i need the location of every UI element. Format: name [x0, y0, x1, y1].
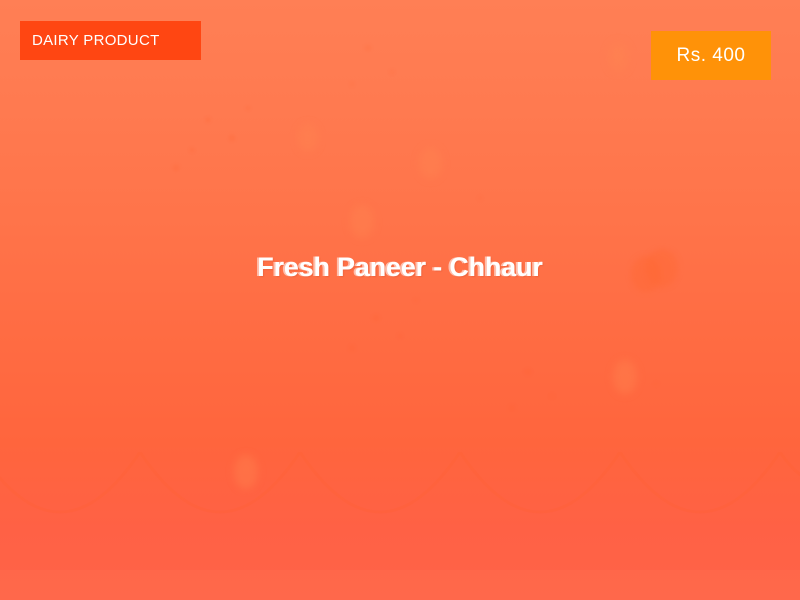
bottom-band — [0, 570, 800, 600]
category-badge: DAIRY PRODUCT — [20, 21, 201, 60]
price-badge: Rs. 400 — [651, 31, 771, 80]
blob-upper-mid — [419, 147, 442, 179]
wave-pattern — [0, 452, 800, 572]
blob-lower-left — [234, 455, 258, 489]
blob-near-price-badge — [608, 42, 629, 72]
background-decoration — [0, 0, 800, 600]
blob-top-left-small — [298, 124, 318, 152]
speckle-texture — [0, 0, 800, 600]
blob-center-upper — [350, 205, 374, 238]
price-badge-label: Rs. 400 — [677, 45, 746, 67]
product-card: DAIRY PRODUCT Rs. 400 Fresh Paneer - Chh… — [0, 0, 800, 600]
page-title: Fresh Paneer - Chhaur — [0, 252, 800, 283]
category-badge-label: DAIRY PRODUCT — [32, 32, 160, 49]
blob-lower-right — [613, 360, 637, 394]
